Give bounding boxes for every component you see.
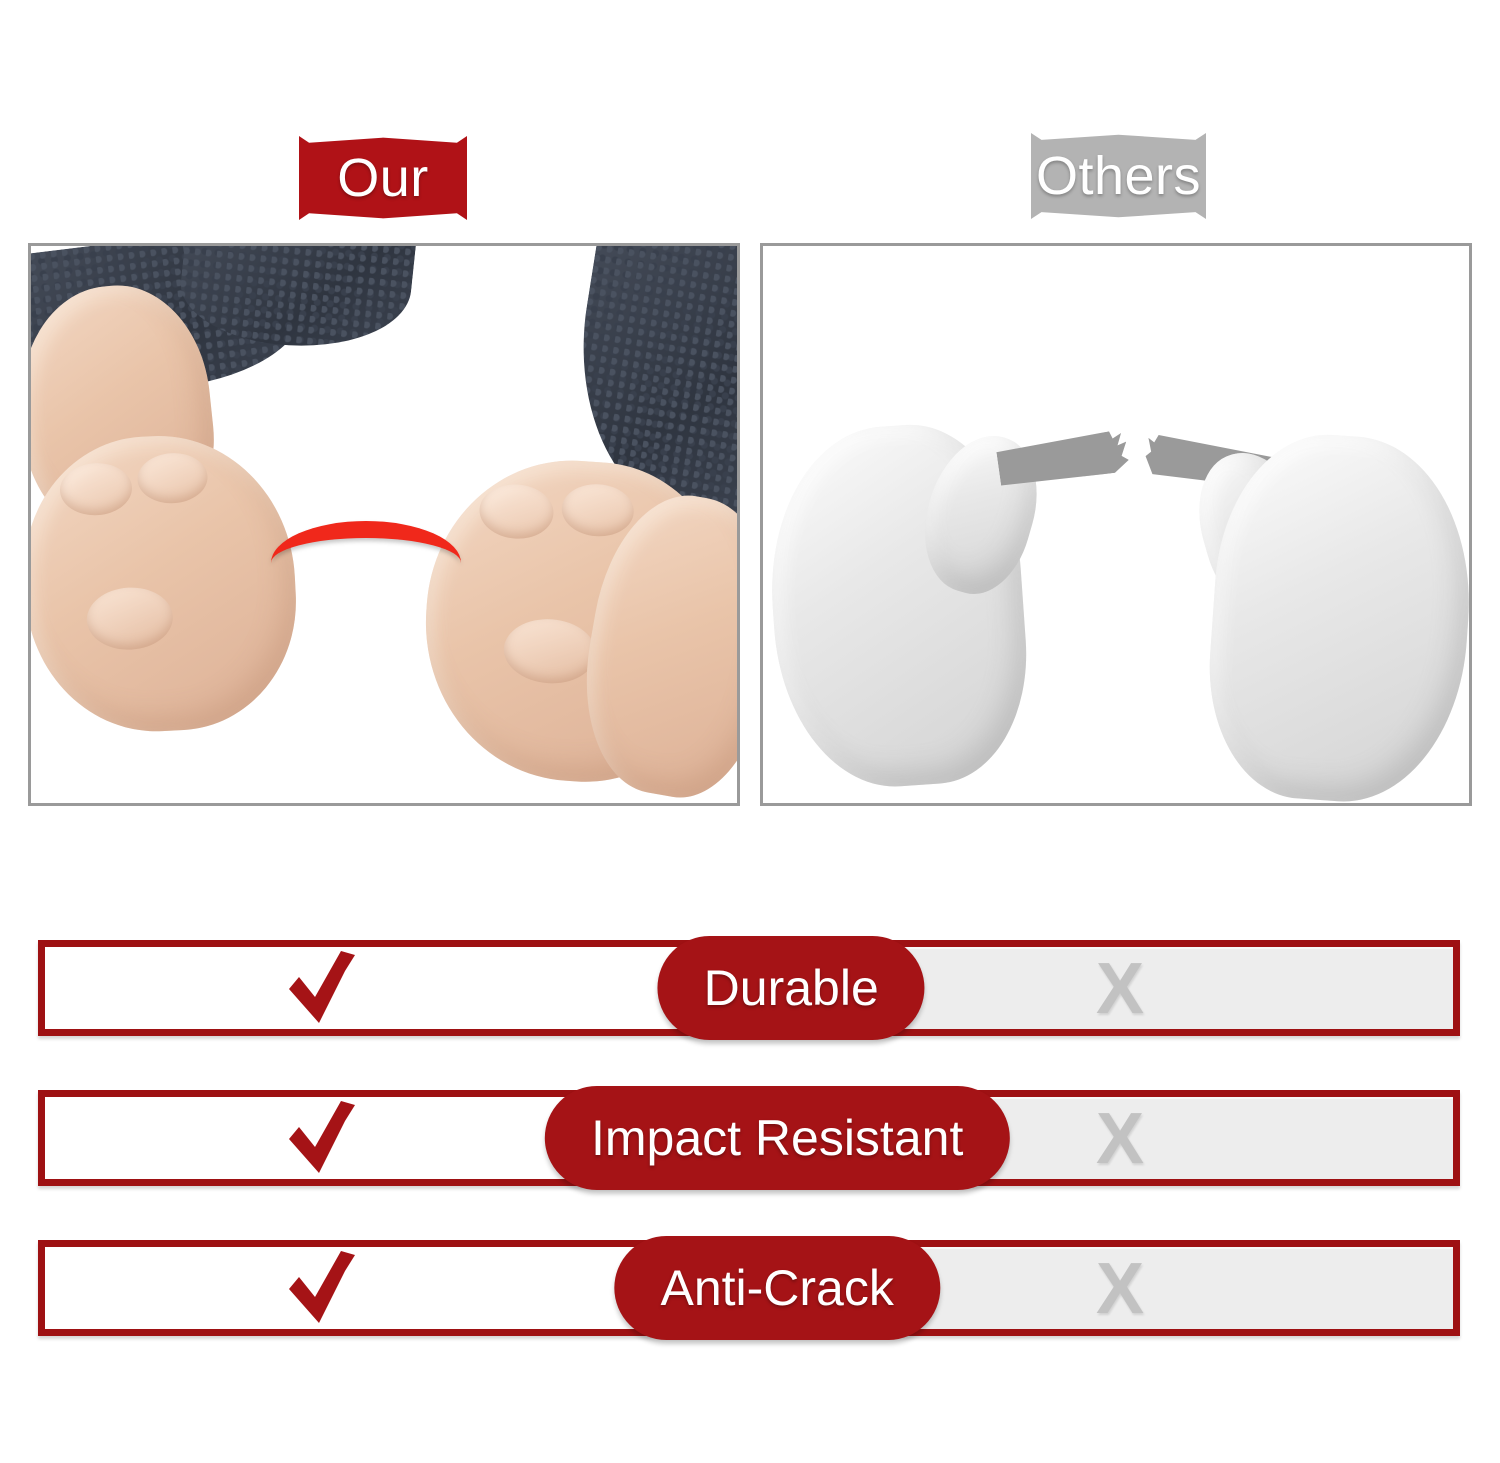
comparison-row: X Impact Resistant <box>38 1090 1460 1186</box>
feature-pill: Durable <box>658 936 925 1040</box>
comparison-row: X Durable <box>38 940 1460 1036</box>
others-product-photo <box>760 243 1472 806</box>
feature-label: Durable <box>704 959 879 1017</box>
knuckle-icon <box>478 482 556 541</box>
knuckle-icon <box>85 585 174 651</box>
x-mark-icon: X <box>1096 953 1144 1025</box>
feature-label: Impact Resistant <box>591 1109 963 1167</box>
others-photo-canvas <box>763 246 1469 803</box>
ours-cell <box>45 947 749 1029</box>
fist-left-icon <box>28 429 303 738</box>
knuckle-icon <box>502 616 598 686</box>
x-mark-icon: X <box>1096 1253 1144 1325</box>
ours-header-label: Our <box>337 147 429 209</box>
others-header-label: Others <box>1036 145 1201 207</box>
our-photo-canvas <box>31 246 737 803</box>
comparison-infographic: Our Others <box>0 0 1500 1463</box>
comparison-row: X Anti-Crack <box>38 1240 1460 1336</box>
feature-pill: Anti-Crack <box>614 1236 939 1340</box>
knuckle-icon <box>136 451 209 505</box>
broken-tool-left-half-icon <box>996 429 1131 489</box>
others-header-badge: Others <box>1031 133 1206 219</box>
check-icon <box>285 1249 359 1327</box>
knuckle-icon <box>560 482 635 539</box>
check-icon <box>285 949 359 1027</box>
x-mark-icon: X <box>1096 1103 1144 1175</box>
check-icon <box>285 1099 359 1177</box>
feature-pill: Impact Resistant <box>545 1086 1009 1190</box>
flexible-red-tool-icon <box>271 521 461 563</box>
ours-header-badge: Our <box>299 136 467 220</box>
knuckle-icon <box>59 461 134 517</box>
feature-label: Anti-Crack <box>660 1259 893 1317</box>
our-product-photo <box>28 243 740 806</box>
